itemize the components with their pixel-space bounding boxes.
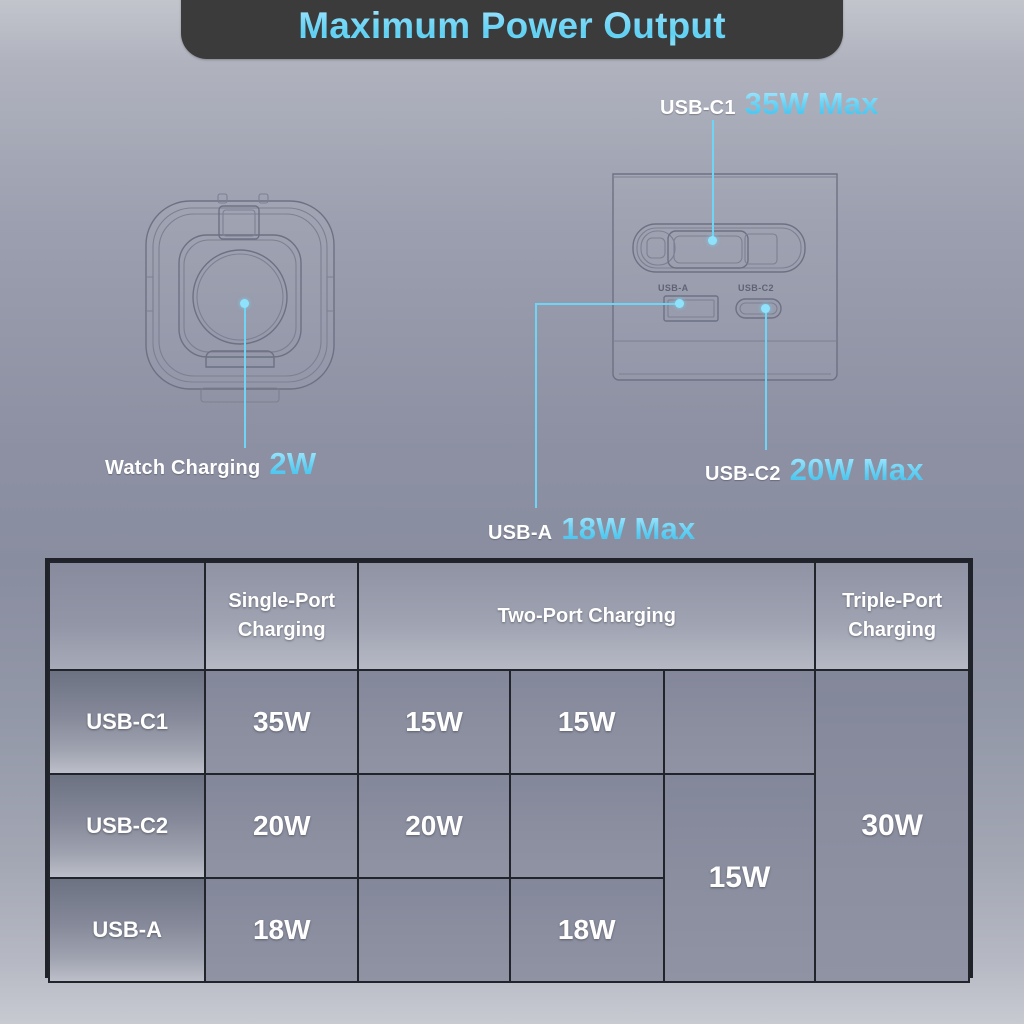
table-header-corner (49, 562, 205, 670)
callout-usbc1: USB-C1 35W Max (660, 86, 879, 122)
callout-watch-value: 2W (269, 446, 316, 482)
single-port-line2: Charging (207, 616, 356, 645)
title-banner: Maximum Power Output (181, 0, 843, 59)
cell-usbc1-two-a: 15W (358, 670, 510, 774)
callout-usbc1-value: 35W Max (745, 86, 879, 122)
callout-usbc2: USB-C2 20W Max (705, 452, 924, 488)
table-header-single-port: Single-Port Charging (205, 562, 358, 670)
page-title: Maximum Power Output (181, 5, 843, 47)
leader-line-usba-v (535, 303, 537, 508)
cell-usbc2-two-b (510, 774, 664, 878)
callout-usba-value: 18W Max (561, 511, 695, 547)
power-output-table: Single-Port Charging Two-Port Charging T… (45, 558, 973, 978)
callout-watch: Watch Charging 2W (105, 446, 316, 482)
cell-two-port-15w-merged: 15W (664, 774, 816, 982)
cell-usbc1-two-c (664, 670, 816, 774)
leader-dot-usba (675, 299, 684, 308)
leader-dot-usbc1 (708, 236, 717, 245)
cell-usbc1-single: 35W (205, 670, 358, 774)
cell-triple-port-value: 30W (815, 670, 969, 982)
leader-line-usbc2 (765, 308, 767, 450)
svg-text:USB-A: USB-A (658, 283, 689, 293)
callout-watch-name: Watch Charging (105, 457, 260, 480)
callout-usbc2-value: 20W Max (790, 452, 924, 488)
single-port-line1: Single-Port (207, 587, 356, 616)
cell-usba-two-a (358, 878, 510, 982)
row-label-usbc1: USB-C1 (49, 670, 205, 774)
table-header-row: Single-Port Charging Two-Port Charging T… (49, 562, 969, 670)
leader-line-usba-h (535, 303, 683, 305)
table-row: USB-C1 35W 15W 15W 30W (49, 670, 969, 774)
callout-usbc2-name: USB-C2 (705, 463, 781, 486)
callout-usbc1-name: USB-C1 (660, 97, 736, 120)
row-label-usba: USB-A (49, 878, 205, 982)
callout-usba: USB-A 18W Max (488, 511, 695, 547)
triple-port-line2: Charging (817, 616, 967, 645)
infographic-stage: Maximum Power Output (0, 0, 1024, 1024)
leader-line-watch (244, 305, 246, 448)
cell-usba-single: 18W (205, 878, 358, 982)
leader-dot-watch (240, 299, 249, 308)
triple-port-line1: Triple-Port (817, 587, 967, 616)
cell-usbc2-two-a: 20W (358, 774, 510, 878)
table-header-triple-port: Triple-Port Charging (815, 562, 969, 670)
cell-usbc1-two-b: 15W (510, 670, 664, 774)
row-label-usbc2: USB-C2 (49, 774, 205, 878)
svg-text:USB-C2: USB-C2 (738, 283, 774, 293)
leader-dot-usbc2 (761, 304, 770, 313)
cell-usbc2-single: 20W (205, 774, 358, 878)
leader-line-usbc1 (712, 120, 714, 240)
table-header-two-port: Two-Port Charging (358, 562, 815, 670)
cell-usba-two-b: 18W (510, 878, 664, 982)
callout-usba-name: USB-A (488, 522, 552, 545)
device-front-view: USB-A USB-C2 (600, 168, 850, 393)
